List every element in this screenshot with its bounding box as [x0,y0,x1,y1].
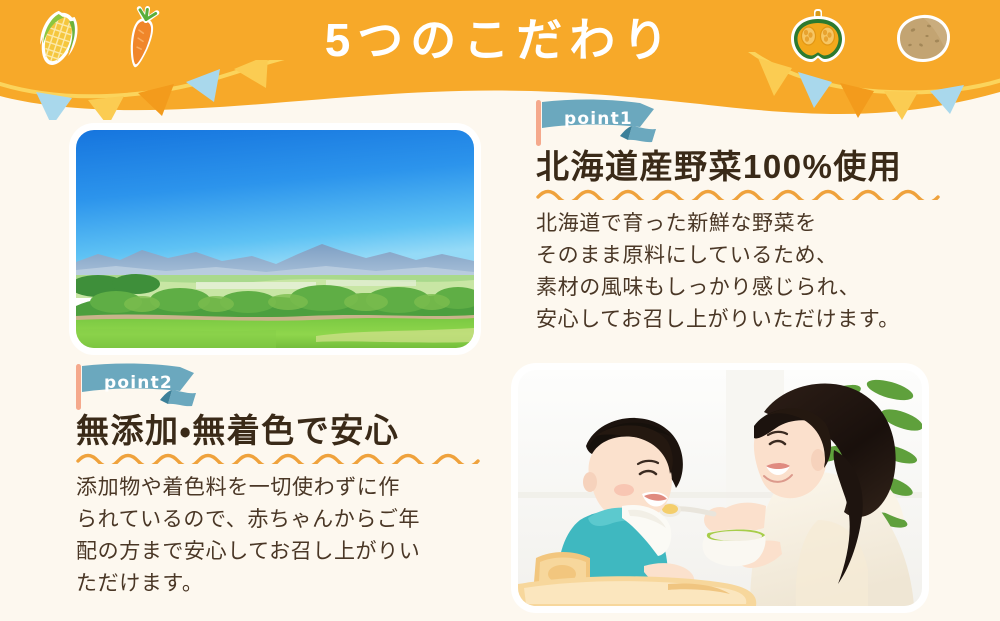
point-1-block: point1 北海道産野菜100%使用 北海道で育った新鮮な野菜を そのまま原料… [536,98,966,336]
bunting-right [740,52,1000,120]
mother-feeding-baby-photo [518,370,922,606]
page-header: 5つのこだわり [0,0,1000,120]
point-2-wavy-underline [76,452,480,464]
bunting-left [0,60,320,120]
point-2-body: 添加物や着色料を一切使わずに作 られているので、赤ちゃんからご年 配の方まで安心… [76,472,506,600]
point-1-wavy-underline [536,188,940,200]
point-2-heading: 無添加・無着色で安心 [76,412,506,451]
hokkaido-farmland-photo [76,130,474,348]
point-1-body: 北海道で育った新鮮な野菜を そのまま原料にしているため、 素材の風味もしっかり感… [536,208,966,336]
point-2-ribbon: point2 [76,362,506,410]
point-1-heading: 北海道産野菜100%使用 [536,148,966,187]
point-1-badge-label: point1 [564,109,633,129]
point-2-block: point2 無添加・無着色で安心 添加物や着色料を一切使わずに作 られているの… [76,362,506,600]
promo-page: 5つのこだわり [0,0,1000,621]
point-2-badge-label: point2 [104,373,173,393]
